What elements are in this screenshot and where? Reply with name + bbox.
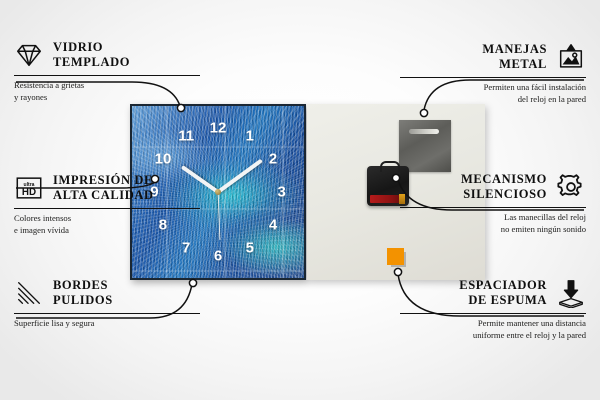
feature-vidrio-title-line1: VIDRIO xyxy=(53,40,200,55)
hanger-keyhole-slot xyxy=(409,129,439,134)
feature-bordes-pulidos: BORDES PULIDOS Superficie lisa y segura xyxy=(14,278,200,330)
feature-espaciador-desc-line2: uniforme entre el reloj y la pared xyxy=(400,330,586,342)
feature-impresion-desc-line2: e imagen vívida xyxy=(14,225,200,237)
feature-bordes-title-line2: PULIDOS xyxy=(53,293,200,308)
mechanism-hanging-loop xyxy=(380,161,400,172)
feature-bordes-title-line1: BORDES xyxy=(53,278,200,293)
feature-espaciador-divider xyxy=(400,313,586,314)
clock-numeral-6: 6 xyxy=(214,248,222,263)
feature-manejas-title-line2: METAL xyxy=(400,57,547,72)
feature-vidrio-templado: VIDRIO TEMPLADO Resistencia a grietas y … xyxy=(14,40,200,103)
feature-manejas-desc-line2: del reloj en la pared xyxy=(400,94,586,106)
diamond-icon xyxy=(14,40,44,70)
feature-espaciador-title-line2: DE ESPUMA xyxy=(400,293,547,308)
ultra-hd-badge-large: HD xyxy=(22,187,36,198)
clock-numeral-3: 3 xyxy=(277,185,285,200)
feature-mecanismo-title-line2: SILENCIOSO xyxy=(400,187,547,202)
clock-numeral-10: 10 xyxy=(155,152,172,167)
feature-vidrio-desc-line1: Resistencia a grietas xyxy=(14,80,200,92)
feature-bordes-divider xyxy=(14,313,200,314)
metal-hanger-plate-icon xyxy=(399,120,451,172)
feature-manejas-desc-line1: Permiten una fácil instalación xyxy=(400,82,586,94)
feature-vidrio-desc-line2: y rayones xyxy=(14,92,200,104)
feature-mecanismo-title-line1: MECANISMO xyxy=(400,172,547,187)
feature-espaciador-desc-line1: Permite mantener una distancia xyxy=(400,318,586,330)
feature-impresion-title-line1: IMPRESIÓN DE xyxy=(53,173,200,188)
infographic-canvas: 12 1 2 3 4 5 6 7 8 9 10 11 xyxy=(0,0,600,400)
feature-impresion-title-line2: ALTA CALIDAD xyxy=(53,188,200,203)
clock-numeral-11: 11 xyxy=(178,129,194,144)
clock-center-cap xyxy=(215,189,221,195)
clock-numeral-7: 7 xyxy=(182,240,190,255)
feature-impresion-desc-line1: Colores intensos xyxy=(14,213,200,225)
feature-mecanismo-desc-line2: no emiten ningún sonido xyxy=(400,224,586,236)
feature-espaciador-espuma: ESPACIADOR DE ESPUMA Permite mantener un… xyxy=(400,278,586,341)
battery-compartment xyxy=(370,195,400,203)
hanging-frame-icon xyxy=(556,42,586,72)
clock-numeral-5: 5 xyxy=(246,240,254,255)
clock-numeral-1: 1 xyxy=(246,129,254,144)
feature-bordes-desc-line1: Superficie lisa y segura xyxy=(14,318,200,330)
feature-manejas-divider xyxy=(400,77,586,78)
gear-icon xyxy=(556,172,586,202)
feature-mecanismo-desc-line1: Las manecillas del reloj xyxy=(400,212,586,224)
feature-mecanismo-silencioso: MECANISMO SILENCIOSO Las manecillas del … xyxy=(400,172,586,235)
clock-numeral-2: 2 xyxy=(269,152,277,167)
feature-manejas-metal: MANEJAS METAL Permiten una fácil instala… xyxy=(400,42,586,105)
clock-numeral-4: 4 xyxy=(269,217,277,232)
beveled-edge-icon xyxy=(14,278,44,308)
foam-spacer-square xyxy=(387,248,404,265)
feature-manejas-title-line1: MANEJAS xyxy=(400,42,547,57)
ultra-hd-badge-icon: ultra HD xyxy=(14,173,44,203)
arrow-onto-pad-icon xyxy=(556,278,586,308)
feature-vidrio-title-line2: TEMPLADO xyxy=(53,55,200,70)
feature-espaciador-title-line1: ESPACIADOR xyxy=(400,278,547,293)
feature-mecanismo-divider xyxy=(400,207,586,208)
feature-impresion-divider xyxy=(14,208,200,209)
feature-vidrio-divider xyxy=(14,75,200,76)
clock-numeral-12: 12 xyxy=(210,121,227,136)
feature-impresion-alta-calidad: ultra HD IMPRESIÓN DE ALTA CALIDAD Color… xyxy=(14,173,200,236)
